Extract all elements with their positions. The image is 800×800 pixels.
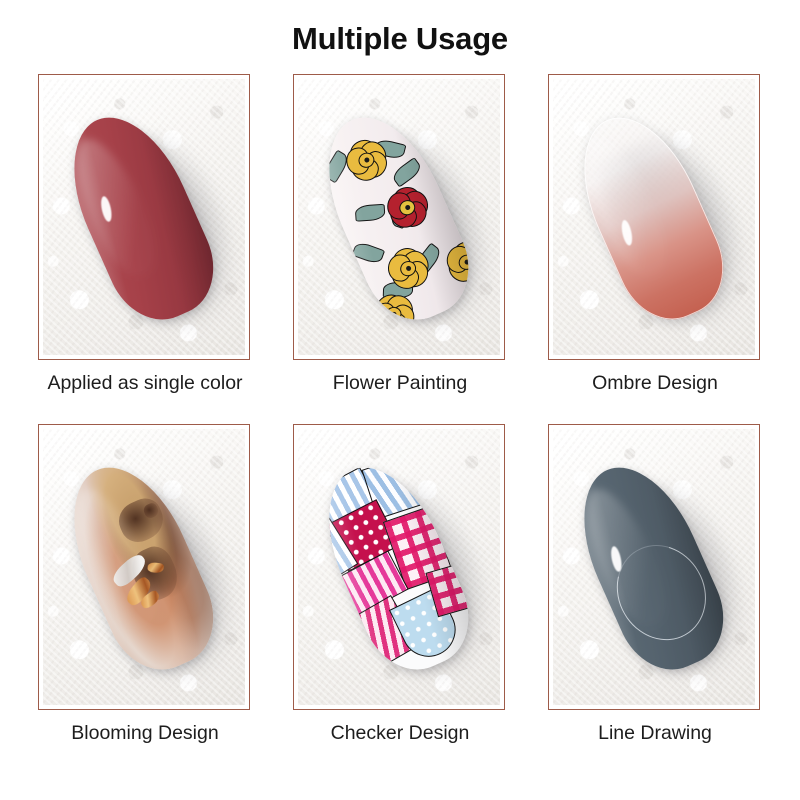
photo-frame-flower-painting[interactable] <box>293 74 505 360</box>
gallery-item[interactable]: Applied as single color <box>38 74 252 424</box>
gallery-item-caption: Blooming Design <box>38 710 252 774</box>
gallery-item-caption: Ombre Design <box>548 360 762 424</box>
photo-frame-blooming-design[interactable] <box>38 424 250 710</box>
photo-frame-ombre-design[interactable] <box>548 74 760 360</box>
photo-checker-design <box>298 429 500 705</box>
photo-blooming-design <box>43 429 245 705</box>
photo-flower-painting <box>298 79 500 355</box>
gallery-item-caption: Applied as single color <box>38 360 252 424</box>
usage-gallery-grid: Applied as single color <box>0 74 800 774</box>
gallery-item[interactable]: Ombre Design <box>548 74 762 424</box>
gallery-item[interactable]: Blooming Design <box>38 424 252 774</box>
photo-frame-applied-as-single-color[interactable] <box>38 74 250 360</box>
photo-applied-as-single-color <box>43 79 245 355</box>
multiple-usage-poster: Multiple Usage Applied as single <box>0 0 800 800</box>
photo-line-drawing <box>553 429 755 705</box>
page-title: Multiple Usage <box>0 0 800 56</box>
photo-frame-line-drawing[interactable] <box>548 424 760 710</box>
photo-ombre-design <box>553 79 755 355</box>
gallery-item-caption: Checker Design <box>293 710 507 774</box>
gallery-item-caption: Flower Painting <box>293 360 507 424</box>
gallery-item[interactable]: Checker Design <box>293 424 507 774</box>
photo-frame-checker-design[interactable] <box>293 424 505 710</box>
gallery-item-caption: Line Drawing <box>548 710 762 774</box>
gallery-item[interactable]: Flower Painting <box>293 74 507 424</box>
gallery-item[interactable]: Line Drawing <box>548 424 762 774</box>
